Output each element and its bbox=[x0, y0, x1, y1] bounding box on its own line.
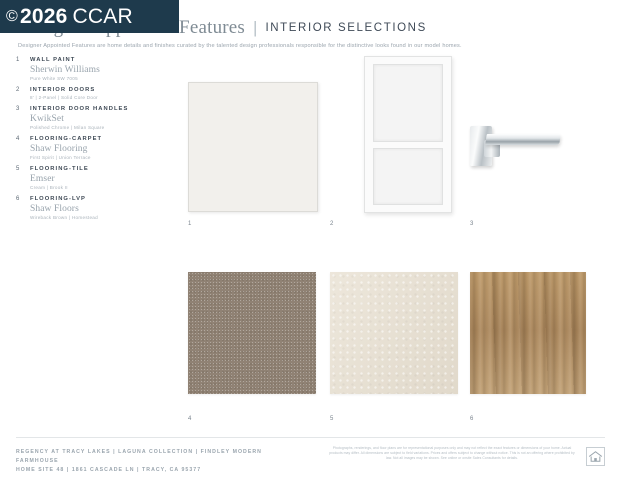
sample-caption-4: 4 bbox=[188, 416, 192, 422]
tile-texture bbox=[330, 272, 458, 394]
sample-caption-6: 6 bbox=[470, 416, 474, 422]
footer-community-info: REGENCY AT TRACY LAKES | LAGUNA COLLECTI… bbox=[16, 448, 306, 475]
door-handle-image bbox=[470, 118, 566, 178]
footer-divider bbox=[16, 437, 605, 438]
feature-category: INTERIOR DOOR HANDLES bbox=[30, 105, 148, 114]
feature-detail: Cream | Brook II bbox=[30, 184, 148, 191]
watermark-org: CCAR bbox=[73, 5, 133, 29]
handle-assembly bbox=[470, 118, 566, 178]
footer-line-1: REGENCY AT TRACY LAKES | LAGUNA COLLECTI… bbox=[16, 448, 306, 466]
sample-caption-1: 1 bbox=[188, 221, 192, 227]
door-body bbox=[364, 56, 452, 213]
feature-detail: Wireback Brown | Homestead bbox=[30, 214, 148, 221]
header-description: Designer Appointed Features are home det… bbox=[18, 42, 603, 50]
feature-number: 3 bbox=[16, 105, 19, 114]
copyright-icon: © bbox=[6, 8, 18, 26]
legal-disclaimer: Photographs, renderings, and floor plans… bbox=[327, 446, 577, 461]
list-item: 4 FLOORING-CARPET Shaw Flooring First Sp… bbox=[16, 135, 148, 161]
feature-category: FLOORING-LVP bbox=[30, 195, 148, 204]
wall-paint-chip bbox=[188, 82, 318, 212]
sample-caption-2: 2 bbox=[330, 221, 334, 227]
feature-number: 6 bbox=[16, 195, 19, 204]
interior-door-image bbox=[364, 56, 452, 213]
watermark-year: 2026 bbox=[20, 5, 68, 29]
sample-caption-5: 5 bbox=[330, 416, 334, 422]
feature-category: FLOORING-CARPET bbox=[30, 135, 148, 144]
footer-line-2: HOME SITE 48 | 1861 CASCADE LN | TRACY, … bbox=[16, 466, 306, 475]
feature-number: 1 bbox=[16, 56, 19, 65]
feature-detail: Polished Chrome | Milan Square bbox=[30, 124, 148, 131]
tile-swatch-image bbox=[330, 272, 458, 394]
handle-lever bbox=[485, 134, 561, 145]
feature-number: 5 bbox=[16, 165, 19, 174]
feature-category: WALL PAINT bbox=[30, 56, 148, 65]
lvp-swatch-image bbox=[470, 272, 586, 394]
equal-housing-opportunity-icon bbox=[586, 447, 605, 466]
ccar-watermark: © 2026 CCAR bbox=[0, 0, 179, 33]
paint-swatch bbox=[188, 82, 318, 212]
feature-detail: First Spirit | Union Terrace bbox=[30, 154, 148, 161]
title-divider: | bbox=[253, 18, 257, 38]
carpet-swatch-image bbox=[188, 272, 316, 394]
feature-detail: 8' | 2-Panel | Solid Core Door bbox=[30, 94, 148, 101]
list-item: 5 FLOORING-TILE Emser Cream | Brook II bbox=[16, 165, 148, 191]
lvp-texture bbox=[470, 272, 586, 394]
feature-detail: Pure White SW 7005 bbox=[30, 75, 148, 82]
sample-caption-3: 3 bbox=[470, 221, 474, 227]
feature-list: 1 WALL PAINT Sherwin Williams Pure White… bbox=[16, 56, 148, 225]
feature-number: 4 bbox=[16, 135, 19, 144]
carpet-texture bbox=[188, 272, 316, 394]
list-item: 2 INTERIOR DOORS 8' | 2-Panel | Solid Co… bbox=[16, 86, 148, 101]
list-item: 6 FLOORING-LVP Shaw Floors Wireback Brow… bbox=[16, 195, 148, 221]
list-item: 3 INTERIOR DOOR HANDLES KwikSet Polished… bbox=[16, 105, 148, 131]
list-item: 1 WALL PAINT Sherwin Williams Pure White… bbox=[16, 56, 148, 82]
feature-number: 2 bbox=[16, 86, 19, 95]
feature-category: FLOORING-TILE bbox=[30, 165, 148, 174]
door-panel-lower bbox=[373, 148, 443, 205]
footer-disclaimer-block: Photographs, renderings, and floor plans… bbox=[327, 446, 577, 461]
page-subtitle: INTERIOR SELECTIONS bbox=[265, 18, 426, 38]
door-panel-upper bbox=[373, 64, 443, 142]
